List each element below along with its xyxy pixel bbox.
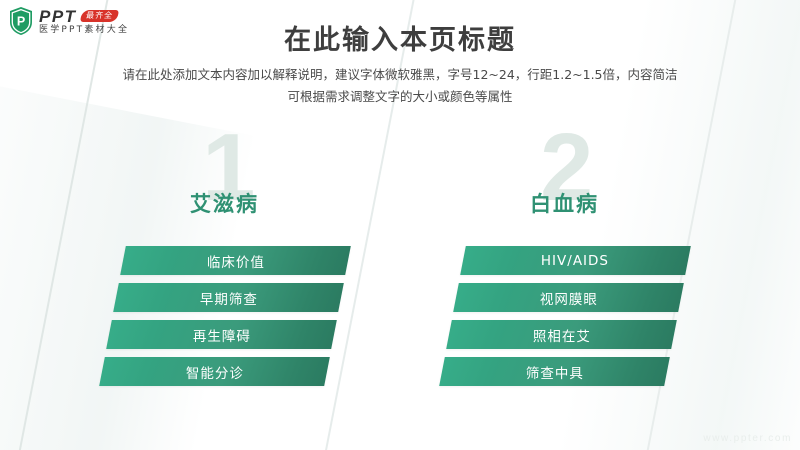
column-2: 2 白血病 HIV/AIDS 视网膜眼 照相在艾 筛查中具 [400,128,740,418]
column-2-item-2-label: 视网膜眼 [540,288,598,308]
content-columns: 1 艾滋病 临床价值 早期筛查 再生障碍 智能分诊 2 白血病 HIV/AIDS [0,128,800,418]
list-item[interactable]: 临床价值 [120,246,351,275]
column-1-heading: 艾滋病 [190,188,259,218]
column-2-item-4-label: 筛查中具 [526,362,584,382]
list-item[interactable]: HIV/AIDS [460,246,691,275]
column-1-item-4-label: 智能分诊 [186,362,244,382]
list-item[interactable]: 智能分诊 [99,357,330,386]
list-item[interactable]: 早期筛查 [113,283,344,312]
column-1-bar-list: 临床价值 早期筛查 再生障碍 智能分诊 [60,246,400,394]
column-2-item-1-label: HIV/AIDS [541,253,609,269]
page-subtitle: 请在此处添加文本内容加以解释说明，建议字体微软雅黑，字号12~24，行距1.2~… [0,64,800,108]
list-item[interactable]: 照相在艾 [446,320,677,349]
column-2-bar-list: HIV/AIDS 视网膜眼 照相在艾 筛查中具 [400,246,740,394]
column-2-item-3-label: 照相在艾 [533,325,591,345]
column-1: 1 艾滋病 临床价值 早期筛查 再生障碍 智能分诊 [60,128,400,418]
column-1-item-3-label: 再生障碍 [193,325,251,345]
page-subtitle-line-1: 请在此处添加文本内容加以解释说明，建议字体微软雅黑，字号12~24，行距1.2~… [0,64,800,86]
page-subtitle-line-2: 可根据需求调整文字的大小或颜色等属性 [0,86,800,108]
page-title: 在此输入本页标题 [0,18,800,57]
list-item[interactable]: 筛查中具 [439,357,670,386]
list-item[interactable]: 再生障碍 [106,320,337,349]
column-1-item-1-label: 临床价值 [207,251,265,271]
list-item[interactable]: 视网膜眼 [453,283,684,312]
column-2-heading: 白血病 [530,188,599,218]
watermark: www.ppter.com [703,433,792,444]
column-1-item-2-label: 早期筛查 [200,288,258,308]
